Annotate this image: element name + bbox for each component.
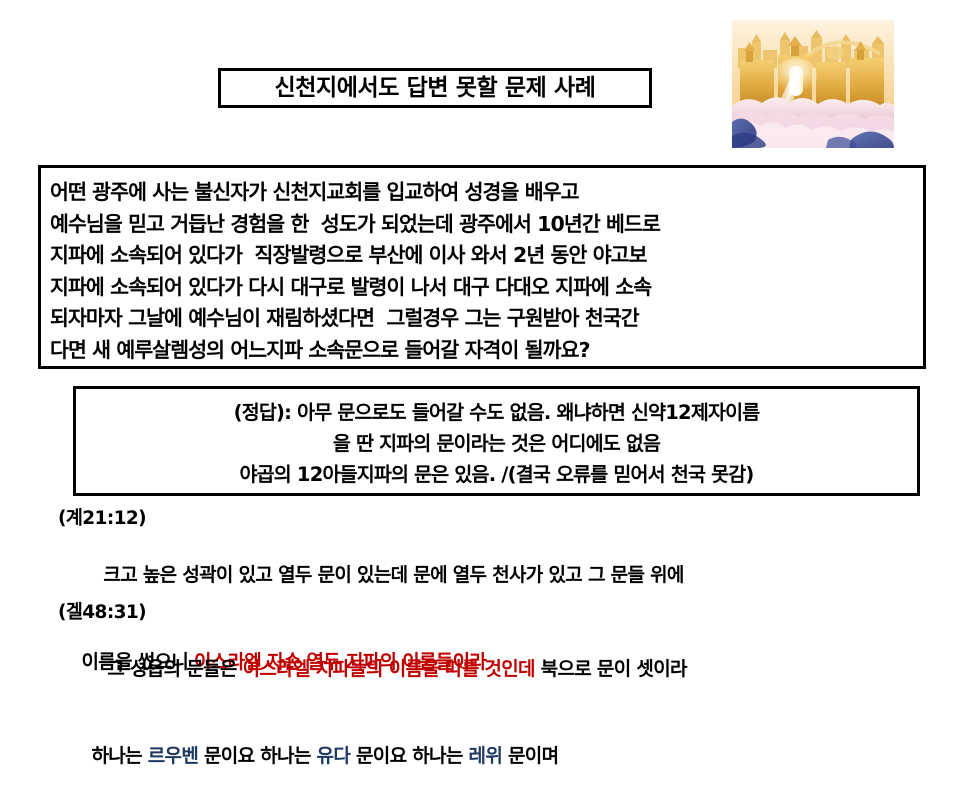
slide-canvas: 신천지에서도 답변 못할 문제 사례 [0,0,960,720]
question-line-1: 어떤 광주에 사는 불신자가 신천지교회를 입교하여 성경을 배우고 [50,177,923,209]
tribe-name-levi: 레위 [469,745,503,767]
scripture-ezekiel-48-31: (겔48:31) 그 성읍의 문들은 이스라엘 지파들의 이름을 따를 것인데 … [0,600,960,800]
question-line-6: 다면 새 예루살렘성의 어느지파 소속문으로 들어갈 자격이 될까요? [50,335,923,367]
verse-text-plain: 그 성읍의 문들은 [102,658,243,680]
question-line-3: 지파에 소속되어 있다가 직장발령으로 부산에 이사 와서 2년 동안 야고보 [50,240,923,272]
verse-text-plain-suffix: 북으로 문이 셋이라 [535,658,687,680]
question-line-2: 예수님을 믿고 거듭난 경험을 한 성도가 되었는데 광주에서 10년간 베드로 [50,209,923,241]
scripture-reference: (계21:12) [0,506,960,532]
answer-line-1: (정답): 아무 문으로도 들어갈 수도 없음. 왜냐하면 신약12제자이름 [76,397,917,428]
scripture-verse-line-1: 그 성읍의 문들은 이스라엘 지파들의 이름을 따를 것인데 북으로 문이 셋이… [0,626,960,713]
verse-text-plain: 문이요 하나는 [350,745,468,767]
verse-text-plain: 하나는 [92,745,148,767]
answer-box: (정답): 아무 문으로도 들어갈 수도 없음. 왜냐하면 신약12제자이름 을… [73,386,920,496]
answer-line-3: 야곱의 12아들지파의 문은 있음. /(결국 오류를 믿어서 천국 못감) [76,459,917,490]
scripture-verse-line-2: 하나는 르우벤 문이요 하나는 유다 문이요 하나는 레위 문이며 [0,713,960,800]
question-box: 어떤 광주에 사는 불신자가 신천지교회를 입교하여 성경을 배우고 예수님을 … [38,165,926,369]
question-line-4: 지파에 소속되어 있다가 다시 대구로 발령이 나서 대구 다대오 지파에 소속 [50,272,923,304]
question-line-5: 되자마자 그날에 예수님이 재림하셨다면 그럴경우 그는 구원받아 천국간 [50,303,923,335]
scripture-reference: (겔48:31) [0,600,960,626]
verse-text-plain: 문이요 하나는 [198,745,316,767]
verse-text-highlight-red: 이스라엘 지파들의 이름을 따를 것인데 [243,658,535,680]
title-box: 신천지에서도 답변 못할 문제 사례 [218,68,652,108]
tribe-name-reuben: 르우벤 [148,745,198,767]
page-title: 신천지에서도 답변 못할 문제 사례 [274,77,595,100]
verse-text-plain: 크고 높은 성곽이 있고 열두 문이 있는데 문에 열두 천사가 있고 그 문들… [98,564,684,586]
answer-line-2: 을 딴 지파의 문이라는 것은 어디에도 없음 [76,428,917,459]
verse-text-plain: 문이며 [502,745,558,767]
tribe-name-judah: 유다 [317,745,351,767]
new-jerusalem-illustration [732,20,894,148]
new-jerusalem-icon [732,20,894,148]
